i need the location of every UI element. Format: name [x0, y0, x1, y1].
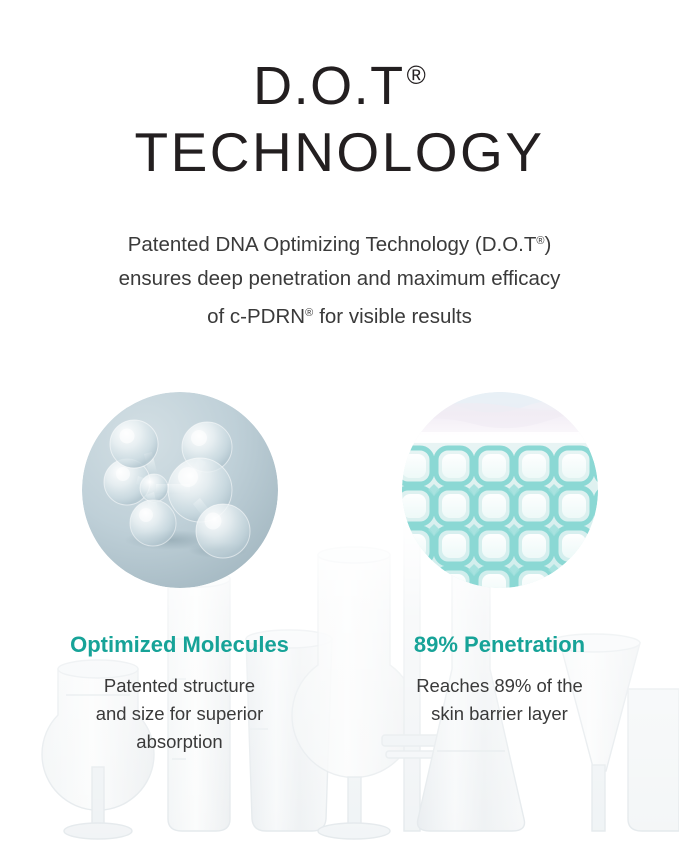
subtitle-paragraph: Patented DNA Optimizing Technology (D.O.…: [0, 224, 679, 334]
subtitle-line-3: of c-PDRN®for visible results: [0, 296, 679, 334]
title-line-one: D.O.T®: [0, 44, 679, 117]
feature-body-line: and size for superior: [96, 700, 264, 728]
feature-column-optimized-molecules: Optimized Molecules Patented structure a…: [82, 392, 278, 756]
feature-body-line: Reaches 89% of the: [416, 672, 583, 700]
page-title: D.O.T® TECHNOLOGY: [0, 44, 679, 183]
subtitle-line-1-text-b: ): [544, 233, 551, 256]
subtitle-line-1-text-a: Patented DNA Optimizing Technology (D.O.…: [128, 233, 537, 256]
title-line-two: TECHNOLOGY: [0, 121, 679, 183]
subtitle-line-1: Patented DNA Optimizing Technology (D.O.…: [0, 224, 679, 262]
registered-trademark-icon: ®: [305, 307, 313, 319]
feature-body-line: skin barrier layer: [416, 700, 583, 728]
feature-columns: Optimized Molecules Patented structure a…: [0, 392, 679, 756]
molecule-illustration: [82, 392, 278, 588]
subtitle-line-3-text-a: of c-PDRN: [207, 305, 305, 328]
feature-column-penetration: 89% Penetration Reaches 89% of the skin …: [402, 392, 598, 756]
title-line-one-text: D.O.T: [253, 56, 405, 116]
feature-heading-optimized-molecules: Optimized Molecules: [70, 632, 289, 658]
feature-body-line: absorption: [96, 728, 264, 756]
feature-body-line: Patented structure: [96, 672, 264, 700]
infographic-page: D.O.T® TECHNOLOGY Patented DNA Optimizin…: [0, 0, 679, 849]
subtitle-line-3-text-b: for visible results: [319, 305, 472, 328]
feature-body-optimized-molecules: Patented structure and size for superior…: [96, 672, 264, 756]
feature-body-penetration: Reaches 89% of the skin barrier layer: [416, 672, 583, 728]
subtitle-line-2: ensures deep penetration and maximum eff…: [0, 262, 679, 296]
registered-trademark-icon: ®: [407, 60, 426, 90]
feature-heading-penetration: 89% Penetration: [414, 632, 585, 658]
skin-barrier-lattice-illustration: [402, 392, 598, 588]
